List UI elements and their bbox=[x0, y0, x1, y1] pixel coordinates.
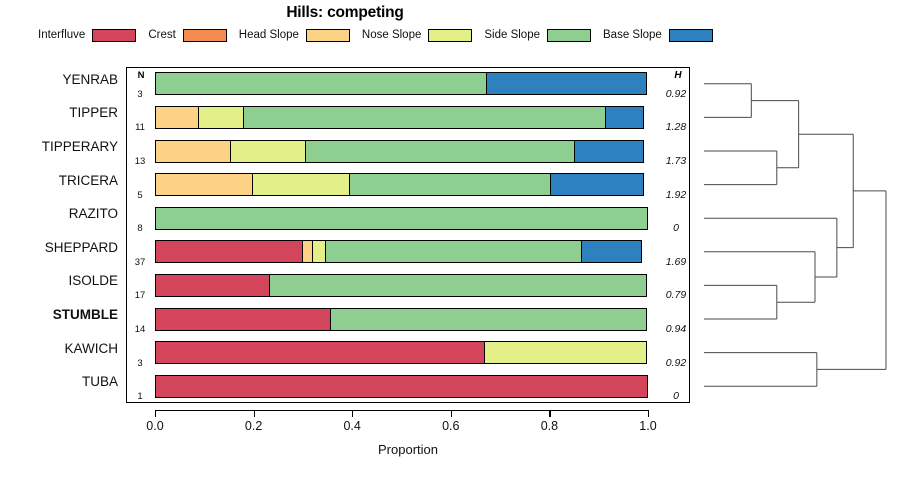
taxon-label: TIPPER bbox=[0, 106, 118, 120]
legend-entry: Side Slope bbox=[484, 29, 591, 42]
x-tick-label: 0.2 bbox=[234, 419, 274, 433]
bar-segment bbox=[330, 308, 647, 331]
legend-swatch bbox=[92, 29, 136, 42]
n-value: 37 bbox=[126, 257, 154, 268]
taxon-label: ISOLDE bbox=[0, 274, 118, 288]
x-tick-label: 0.0 bbox=[135, 419, 175, 433]
bar-segment bbox=[155, 106, 199, 129]
legend-entry: Interfluve bbox=[38, 29, 136, 42]
x-axis-line bbox=[155, 410, 648, 411]
taxon-label: TIPPERARY bbox=[0, 140, 118, 154]
chart-canvas: Hills: competing InterfluveCrestHead Slo… bbox=[0, 0, 900, 480]
stacked-bar bbox=[155, 240, 648, 263]
x-tick bbox=[254, 410, 255, 417]
h-column-header: H bbox=[660, 70, 696, 81]
legend-entry-trailing bbox=[725, 29, 769, 42]
bar-segment bbox=[155, 375, 648, 398]
n-value: 3 bbox=[126, 358, 154, 369]
stacked-bar bbox=[155, 341, 648, 364]
legend-label: Side Slope bbox=[484, 29, 540, 41]
h-value: 1.69 bbox=[656, 256, 696, 268]
taxon-label: SHEPPARD bbox=[0, 241, 118, 255]
legend-entry: Base Slope bbox=[603, 29, 713, 42]
h-value: 0.92 bbox=[656, 357, 696, 369]
legend-swatch bbox=[669, 29, 713, 42]
bar-segment bbox=[155, 72, 488, 95]
legend-entry: Crest bbox=[148, 29, 226, 42]
bar-segment bbox=[155, 274, 271, 297]
legend-label: Interfluve bbox=[38, 29, 85, 41]
bar-segment bbox=[550, 173, 644, 196]
n-value: 11 bbox=[126, 122, 154, 133]
x-tick bbox=[352, 410, 353, 417]
bar-segment bbox=[155, 140, 231, 163]
taxon-label: YENRAB bbox=[0, 73, 118, 87]
h-value: 1.28 bbox=[656, 121, 696, 133]
bar-segment bbox=[574, 140, 644, 163]
taxon-label: TUBA bbox=[0, 375, 118, 389]
x-tick bbox=[155, 410, 156, 417]
n-value: 14 bbox=[126, 324, 154, 335]
stacked-bar bbox=[155, 173, 648, 196]
bar-segment bbox=[486, 72, 646, 95]
legend-swatch bbox=[183, 29, 227, 42]
bar-segment bbox=[252, 173, 351, 196]
n-value: 8 bbox=[126, 223, 154, 234]
n-column-header: N bbox=[128, 70, 154, 81]
page-title: Hills: competing bbox=[0, 4, 690, 22]
n-value: 1 bbox=[126, 391, 154, 402]
x-axis-title: Proportion bbox=[126, 442, 690, 457]
legend: InterfluveCrestHead SlopeNose SlopeSide … bbox=[38, 26, 768, 44]
stacked-bar bbox=[155, 106, 648, 129]
legend-label: Head Slope bbox=[239, 29, 299, 41]
x-tick bbox=[549, 410, 550, 417]
bar-segment bbox=[155, 173, 254, 196]
bar-segment bbox=[243, 106, 606, 129]
x-tick bbox=[451, 410, 452, 417]
bar-segment bbox=[155, 240, 303, 263]
legend-swatch bbox=[547, 29, 591, 42]
legend-label: Base Slope bbox=[603, 29, 662, 41]
n-value: 5 bbox=[126, 190, 154, 201]
stacked-bar bbox=[155, 308, 648, 331]
stacked-bar bbox=[155, 274, 648, 297]
h-value: 0.79 bbox=[656, 289, 696, 301]
bar-segment bbox=[349, 173, 551, 196]
bar-segment bbox=[484, 341, 647, 364]
legend-label: Nose Slope bbox=[362, 29, 421, 41]
bar-segment bbox=[325, 240, 582, 263]
stacked-bar bbox=[155, 72, 648, 95]
taxon-label: RAZITO bbox=[0, 207, 118, 221]
bar-segment bbox=[155, 207, 648, 230]
taxon-label: STUMBLE bbox=[0, 308, 118, 322]
taxon-label: KAWICH bbox=[0, 342, 118, 356]
h-value: 0 bbox=[656, 390, 696, 402]
legend-entry: Nose Slope bbox=[362, 29, 472, 42]
bar-segment bbox=[230, 140, 307, 163]
h-value: 0 bbox=[656, 222, 696, 234]
bar-segment bbox=[305, 140, 575, 163]
x-tick-label: 0.6 bbox=[431, 419, 471, 433]
n-value: 3 bbox=[126, 89, 154, 100]
n-value: 17 bbox=[126, 290, 154, 301]
bar-segment bbox=[581, 240, 642, 263]
x-axis bbox=[126, 410, 690, 420]
h-value: 0.92 bbox=[656, 88, 696, 100]
legend-swatch bbox=[428, 29, 472, 42]
x-tick-label: 0.4 bbox=[332, 419, 372, 433]
bar-segment bbox=[155, 341, 485, 364]
dendrogram bbox=[700, 67, 895, 403]
h-value: 1.92 bbox=[656, 189, 696, 201]
stacked-bar bbox=[155, 207, 648, 230]
x-tick-label: 0.8 bbox=[529, 419, 569, 433]
n-value: 13 bbox=[126, 156, 154, 167]
x-tick bbox=[648, 410, 649, 417]
bar-segment bbox=[155, 308, 331, 331]
taxon-label: TRICERA bbox=[0, 174, 118, 188]
h-value: 0.94 bbox=[656, 323, 696, 335]
stacked-bar bbox=[155, 375, 648, 398]
legend-entry: Head Slope bbox=[239, 29, 350, 42]
legend-swatch bbox=[306, 29, 350, 42]
h-value: 1.73 bbox=[656, 155, 696, 167]
bar-segment bbox=[198, 106, 245, 129]
legend-label: Crest bbox=[148, 29, 175, 41]
bar-segment bbox=[605, 106, 643, 129]
x-tick-label: 1.0 bbox=[628, 419, 668, 433]
stacked-bar bbox=[155, 140, 648, 163]
bar-segment bbox=[269, 274, 646, 297]
